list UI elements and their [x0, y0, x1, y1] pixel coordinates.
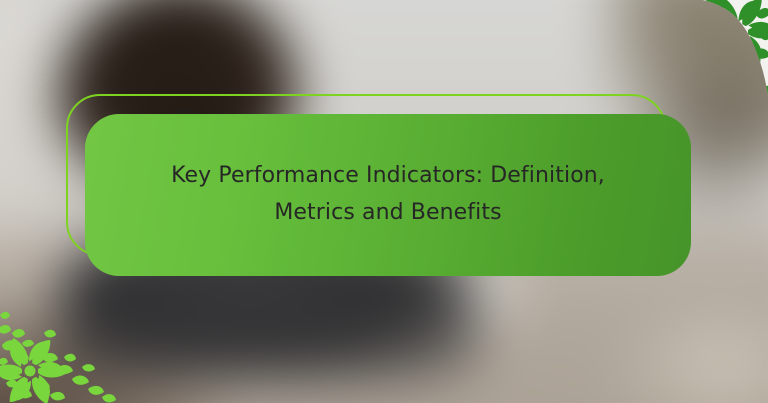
- featured-image-canvas: Key Performance Indicators: Definition, …: [0, 0, 768, 403]
- page-title: Key Performance Indicators: Definition, …: [101, 158, 675, 232]
- title-banner: Key Performance Indicators: Definition, …: [85, 114, 691, 276]
- title-banner-group: Key Performance Indicators: Definition, …: [0, 0, 768, 403]
